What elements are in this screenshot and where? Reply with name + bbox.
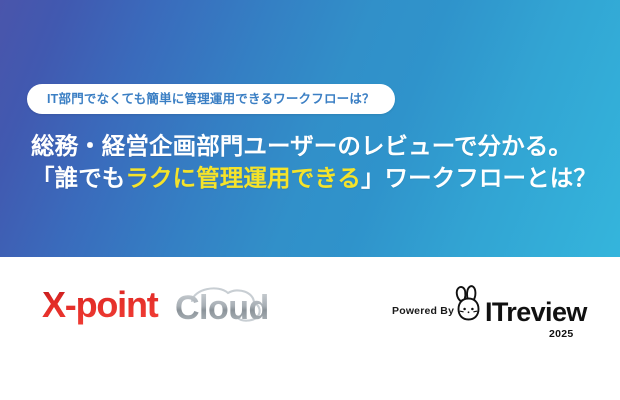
rabbit-icon (454, 284, 484, 327)
hero-badge-pill: IT部門でなくても簡単に管理運用できるワークフローは？ (27, 84, 395, 114)
hero-badge-text: IT部門でなくても簡単に管理運用できるワークフローは？ (47, 93, 375, 106)
headline-line-2-suffix: 」ワークフローとは？ (361, 165, 597, 191)
svg-text:Cloud: Cloud (175, 289, 269, 327)
x-point-cloud-logo: X-point Cloud (42, 283, 274, 329)
headline-line-1: 総務・経営企画部門ユーザーのレビューで分かる。 (31, 130, 601, 162)
hero-headline: 総務・経営企画部門ユーザーのレビューで分かる。 「誰でもラクに管理運用できる」ワ… (31, 130, 601, 195)
rabbit-icon-graphic (454, 284, 484, 322)
svg-text:X-point: X-point (42, 284, 159, 325)
headline-line-2-prefix: 「誰でも (31, 165, 125, 191)
itreview-year: 2025 (549, 329, 574, 340)
hero-gradient-section: IT部門でなくても簡単に管理運用できるワークフローは？ 総務・経営企画部門ユーザ… (0, 0, 620, 257)
promotional-banner: IT部門でなくても簡単に管理運用できるワークフローは？ 総務・経営企画部門ユーザ… (0, 0, 620, 400)
itreview-partner-badge: Powered By ITreview 2025 (392, 283, 592, 343)
headline-line-2: 「誰でもラクに管理運用できる」ワークフローとは？ (31, 162, 601, 194)
x-point-cloud-logo-graphic: X-point Cloud (42, 281, 274, 329)
powered-by-label: Powered By (392, 306, 454, 317)
itreview-brand-name: ITreview (485, 299, 587, 326)
headline-line-2-accent: ラクに管理運用できる (125, 165, 361, 191)
